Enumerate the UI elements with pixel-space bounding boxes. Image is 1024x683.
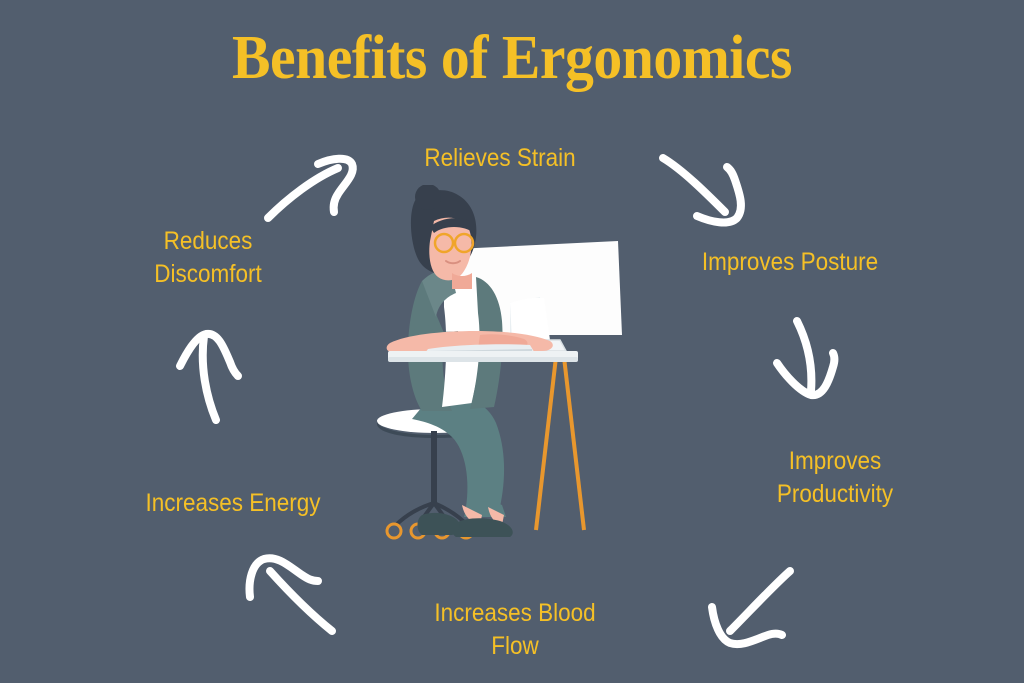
arrow-to-improves-posture-icon xyxy=(655,150,765,240)
benefit-label-improves-posture: Improves Posture xyxy=(673,246,907,279)
arrow-to-increases-blood-flow-icon xyxy=(690,565,800,660)
desk-legs-icon xyxy=(536,357,584,530)
desk-surface-icon xyxy=(388,351,578,362)
arrow-to-increases-energy-icon xyxy=(232,545,342,640)
benefit-label-increases-blood-flow: Increases Blood Flow xyxy=(403,597,628,663)
arrow-to-improves-productivity-icon xyxy=(765,315,855,410)
legs-icon xyxy=(412,394,513,537)
benefit-label-increases-energy: Increases Energy xyxy=(121,487,346,520)
benefit-label-reduces-discomfort: Reduces Discomfort xyxy=(96,225,321,291)
benefit-label-improves-productivity: Improves Productivity xyxy=(723,445,948,511)
arrow-to-relieves-strain-icon xyxy=(262,140,372,225)
infographic-canvas: Benefits of Ergonomics Relieves Strain I… xyxy=(0,0,1024,683)
arrow-to-reduces-discomfort-icon xyxy=(170,320,265,430)
illustration-woman-working-at-ergonomic-desk xyxy=(360,185,660,545)
benefit-label-relieves-strain: Relieves Strain xyxy=(383,142,617,175)
page-title: Benefits of Ergonomics xyxy=(36,22,988,94)
